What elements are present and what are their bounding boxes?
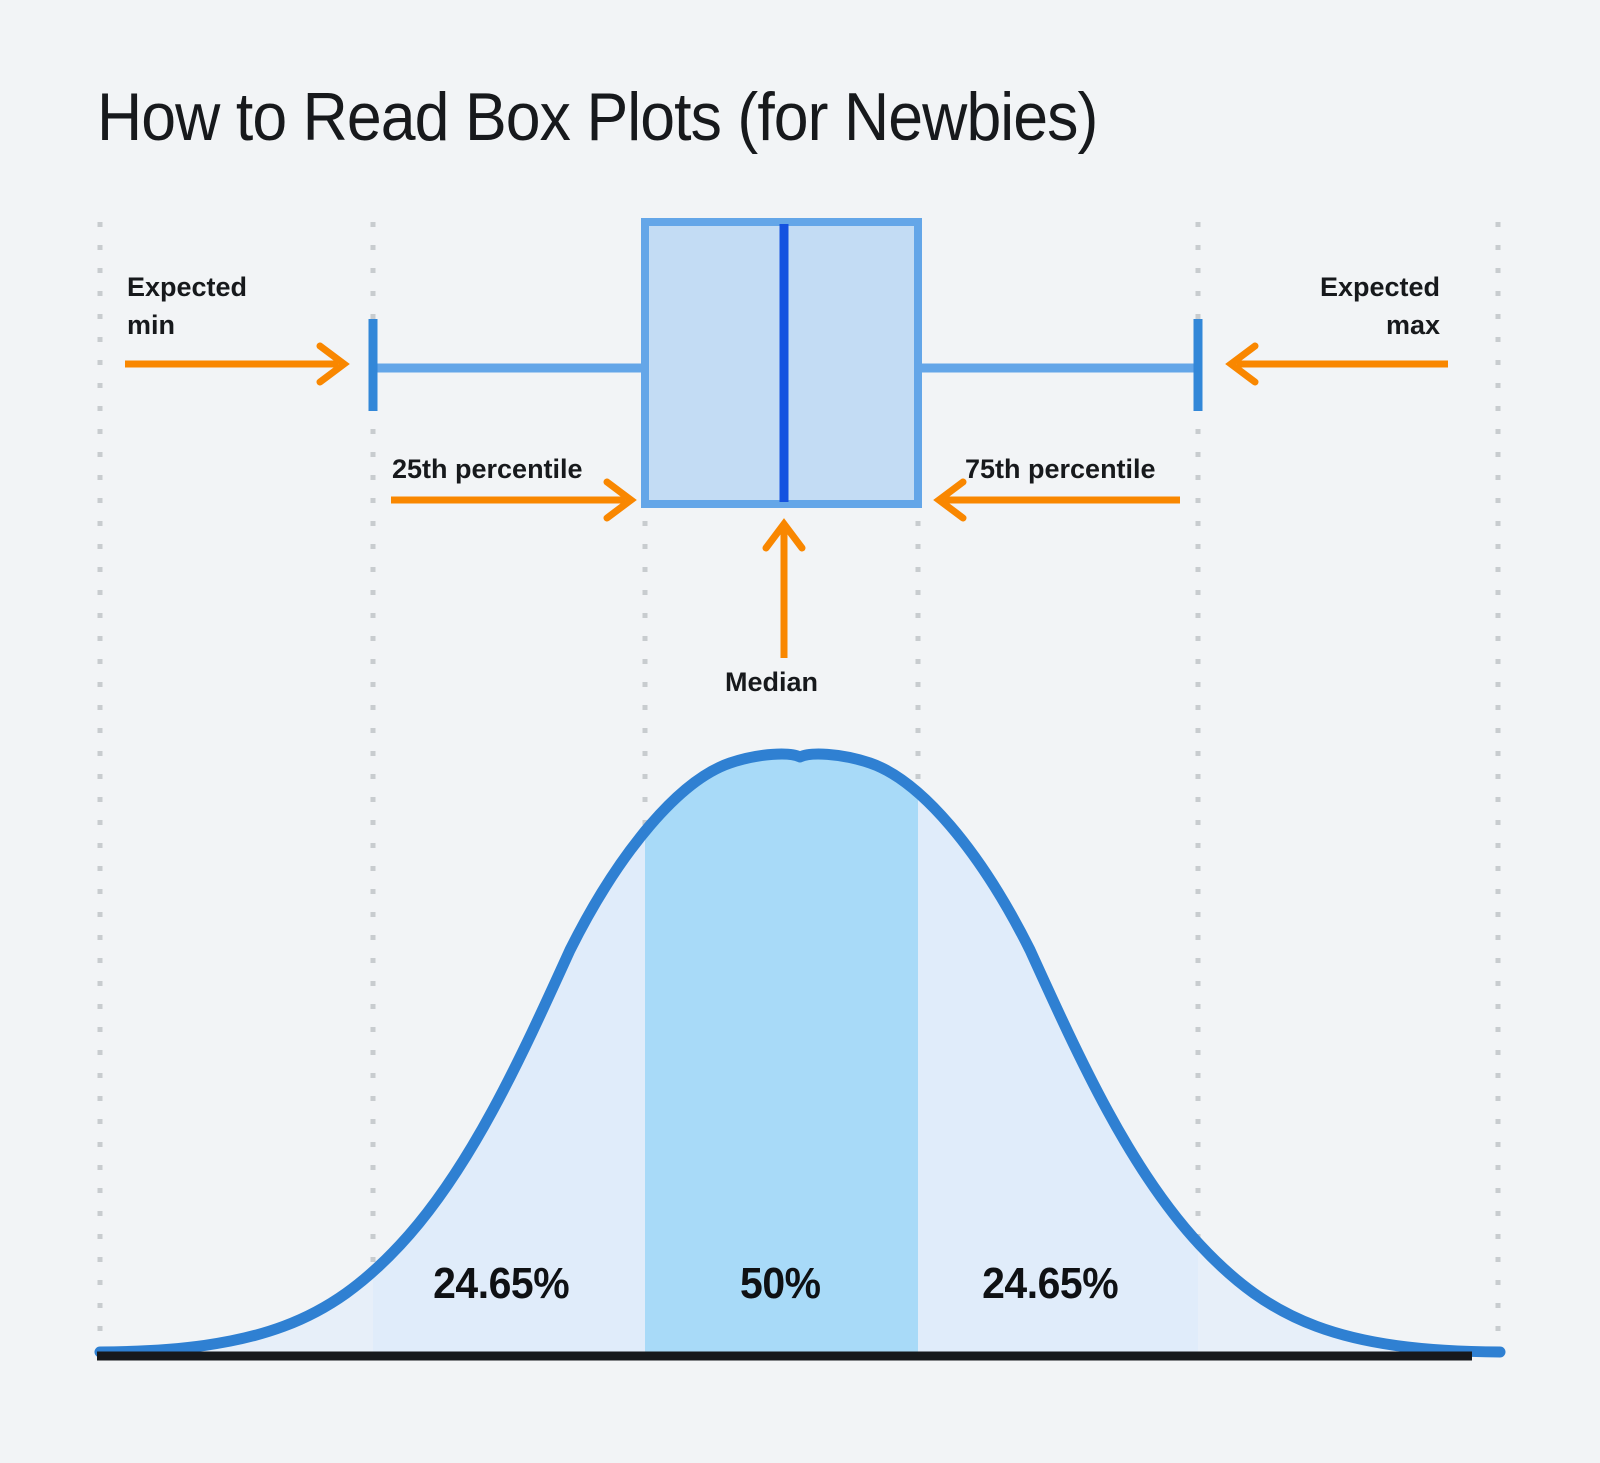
label-median: Median [725, 663, 818, 701]
arrow-expected-max [1231, 346, 1448, 382]
label-percentile-75: 75th percentile [965, 450, 1156, 488]
chart-svg [0, 0, 1600, 1463]
percentage-middle-region: 50% [740, 1259, 821, 1309]
arrow-median [766, 524, 802, 658]
label-expected-min: Expected min [127, 268, 247, 345]
percentage-left-region: 24.65% [433, 1259, 569, 1309]
infographic-canvas: How to Read Box Plots (for Newbies) [0, 0, 1600, 1463]
label-expected-max: Expected max [1320, 268, 1440, 345]
arrow-expected-min [125, 346, 344, 382]
percentage-right-region: 24.65% [982, 1259, 1118, 1309]
label-percentile-25: 25th percentile [392, 450, 583, 488]
